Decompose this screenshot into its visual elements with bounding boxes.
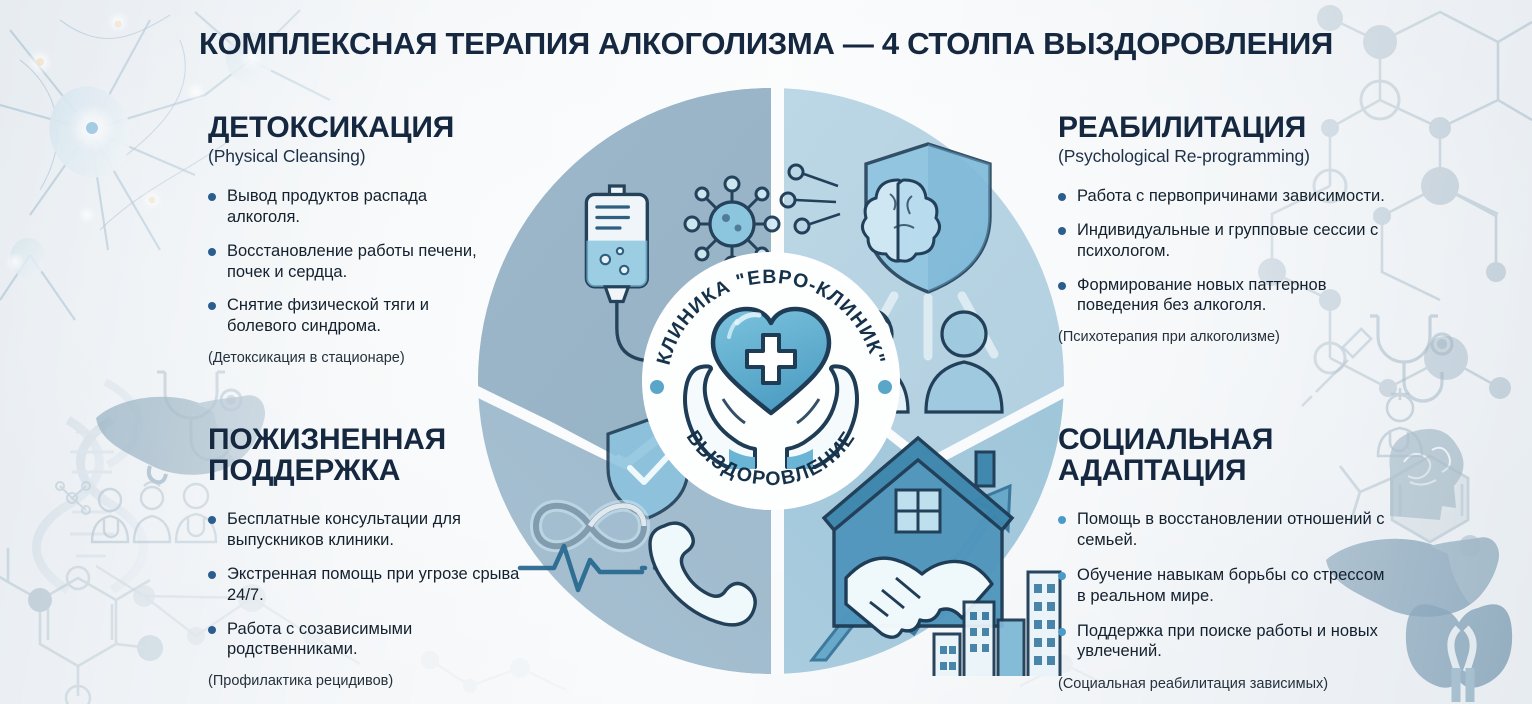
list-item: Формирование новых паттернов поведения б…: [1058, 275, 1388, 317]
list-item: Вывод продуктов распада алкоголя.: [208, 186, 494, 228]
list-item: Снятие физической тяги и болевого синдро…: [208, 295, 494, 337]
lifelong-bullet-list: Бесплатные консультации для выпускников …: [208, 509, 520, 660]
list-item: Работа с созависимыми родственниками.: [208, 619, 520, 661]
lifelong-caption: (Профилактика рецидивов): [208, 673, 520, 689]
list-item: Поддержка при поиске работы и новых увле…: [1058, 621, 1388, 663]
rehab-bullet-list: Работа с первопричинами зависимости. Инд…: [1058, 186, 1388, 316]
detox-subtitle: (Physical Cleansing): [208, 146, 494, 167]
social-bullet-list: Помощь в восстановлении отношений с семь…: [1058, 509, 1388, 662]
emblem-svg: КЛИНИКА "ЕВРО-КЛИНИК" ВЫЗДОРОВЛЕНИЕ: [637, 247, 905, 515]
detox-heading: ДЕТОКСИКАЦИЯ: [208, 112, 494, 143]
emblem-dot-left: [650, 380, 664, 394]
rehab-heading: РЕАБИЛИТАЦИЯ: [1058, 112, 1388, 143]
social-caption: (Социальная реабилитация зависимых): [1058, 676, 1388, 692]
emblem-dot-right: [878, 380, 892, 394]
list-item: Экстренная помощь при угрозе срыва 24/7.: [208, 564, 520, 606]
list-item: Помощь в восстановлении отношений с семь…: [1058, 509, 1388, 551]
list-item: Бесплатные консультации для выпускников …: [208, 509, 520, 551]
detox-caption: (Детоксикация в стационаре): [208, 350, 494, 366]
page-title: КОМПЛЕКСНАЯ ТЕРАПИЯ АЛКОГОЛИЗМА — 4 СТОЛ…: [0, 26, 1532, 62]
rehab-subtitle: (Psychological Re-programming): [1058, 146, 1388, 167]
clinic-emblem-badge: КЛИНИКА "ЕВРО-КЛИНИК" ВЫЗДОРОВЛЕНИЕ: [637, 247, 905, 515]
list-item: Обучение навыкам борьбы со стрессом в ре…: [1058, 565, 1388, 607]
list-item: Индивидуальные и групповые сессии с псих…: [1058, 220, 1388, 262]
pillar-block-rehabilitation: РЕАБИЛИТАЦИЯ (Psychological Re-programmi…: [1058, 112, 1388, 345]
rehab-caption: (Психотерапия при алкоголизме): [1058, 329, 1388, 345]
detox-bullet-list: Вывод продуктов распада алкоголя. Восста…: [208, 186, 494, 337]
infographic-poster: КОМПЛЕКСНАЯ ТЕРАПИЯ АЛКОГОЛИЗМА — 4 СТОЛ…: [0, 0, 1532, 704]
lifelong-heading: ПОЖИЗНЕННАЯПОДДЕРЖКА: [208, 424, 520, 486]
pillar-block-detoxication: ДЕТОКСИКАЦИЯ (Physical Cleansing) Вывод …: [208, 112, 494, 366]
list-item: Работа с первопричинами зависимости.: [1058, 186, 1388, 207]
list-item: Восстановление работы печени, почек и се…: [208, 241, 494, 283]
pillar-block-lifelong-support: ПОЖИЗНЕННАЯПОДДЕРЖКА Бесплатные консульт…: [208, 424, 520, 689]
social-heading: СОЦИАЛЬНАЯАДАПТАЦИЯ: [1058, 424, 1388, 486]
pillar-block-social-adaptation: СОЦИАЛЬНАЯАДАПТАЦИЯ Помощь в восстановле…: [1058, 424, 1388, 692]
